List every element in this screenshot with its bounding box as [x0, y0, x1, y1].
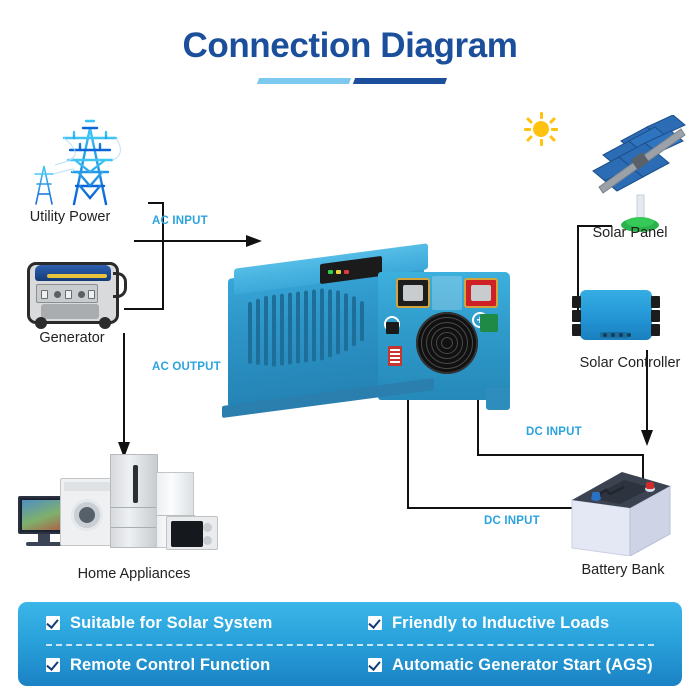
title-underline-dark	[353, 78, 447, 84]
inverter-device: − +	[228, 250, 496, 418]
battery-bank-icon	[566, 470, 678, 556]
label-utility-power: Utility Power	[14, 209, 126, 225]
feature-label: Suitable for Solar System	[70, 614, 272, 633]
refrigerator-icon	[110, 454, 158, 548]
utility-power-icon	[28, 108, 146, 208]
page-title: Connection Diagram	[0, 26, 700, 66]
solar-panel-icon	[585, 115, 697, 235]
home-appliances-icon	[18, 450, 208, 562]
checkbox-icon	[46, 658, 60, 672]
checkbox-icon	[46, 616, 60, 630]
arrow-ac-input	[246, 235, 262, 247]
feature-label: Automatic Generator Start (AGS)	[392, 656, 653, 675]
label-battery-bank: Battery Bank	[548, 562, 698, 578]
title-underline-light	[257, 78, 351, 84]
inverter-negative-terminal-block	[396, 278, 430, 308]
generator-icon	[27, 262, 119, 324]
inverter-led-green	[328, 270, 333, 274]
inverter-black-connector	[386, 322, 399, 334]
label-generator: Generator	[20, 330, 124, 346]
checkbox-icon	[368, 658, 382, 672]
feature-label: Remote Control Function	[70, 656, 270, 675]
inverter-led-yellow	[336, 270, 341, 274]
label-ac-input: AC INPUT	[152, 215, 208, 227]
feature-item-inductive-loads[interactable]: Friendly to Inductive Loads	[350, 602, 682, 644]
inverter-fan-grille	[416, 312, 478, 374]
washing-machine-icon	[60, 478, 112, 546]
title-underline	[0, 78, 700, 86]
inverter-positive-terminal-block	[464, 278, 498, 308]
feature-item-remote-control[interactable]: Remote Control Function	[18, 644, 350, 686]
arrow-dc-battery	[641, 430, 653, 446]
solar-controller-icon	[570, 288, 662, 344]
inverter-foot	[486, 388, 510, 410]
connection-diagram-page: Connection Diagram	[0, 0, 700, 700]
label-solar-controller: Solar Controller	[550, 355, 700, 371]
feature-label: Friendly to Inductive Loads	[392, 614, 609, 633]
label-ac-output: AC OUTPUT	[152, 361, 221, 373]
label-dc-input-lower: DC INPUT	[484, 515, 540, 527]
feature-item-ags[interactable]: Automatic Generator Start (AGS)	[350, 644, 682, 686]
label-home-appliances: Home Appliances	[44, 566, 224, 582]
microwave-icon	[166, 516, 218, 550]
feature-item-solar-system[interactable]: Suitable for Solar System	[18, 602, 350, 644]
inverter-dip-switch	[388, 346, 402, 366]
label-solar-panel: Solar Panel	[560, 225, 700, 241]
feature-panel: Suitable for Solar System Friendly to In…	[18, 602, 682, 686]
sun-icon	[524, 112, 558, 146]
inverter-label-sticker	[432, 276, 462, 310]
checkbox-icon	[368, 616, 382, 630]
inverter-green-terminal-strip	[480, 314, 498, 332]
inverter-led-red	[344, 270, 349, 274]
label-dc-input-upper: DC INPUT	[526, 426, 582, 438]
